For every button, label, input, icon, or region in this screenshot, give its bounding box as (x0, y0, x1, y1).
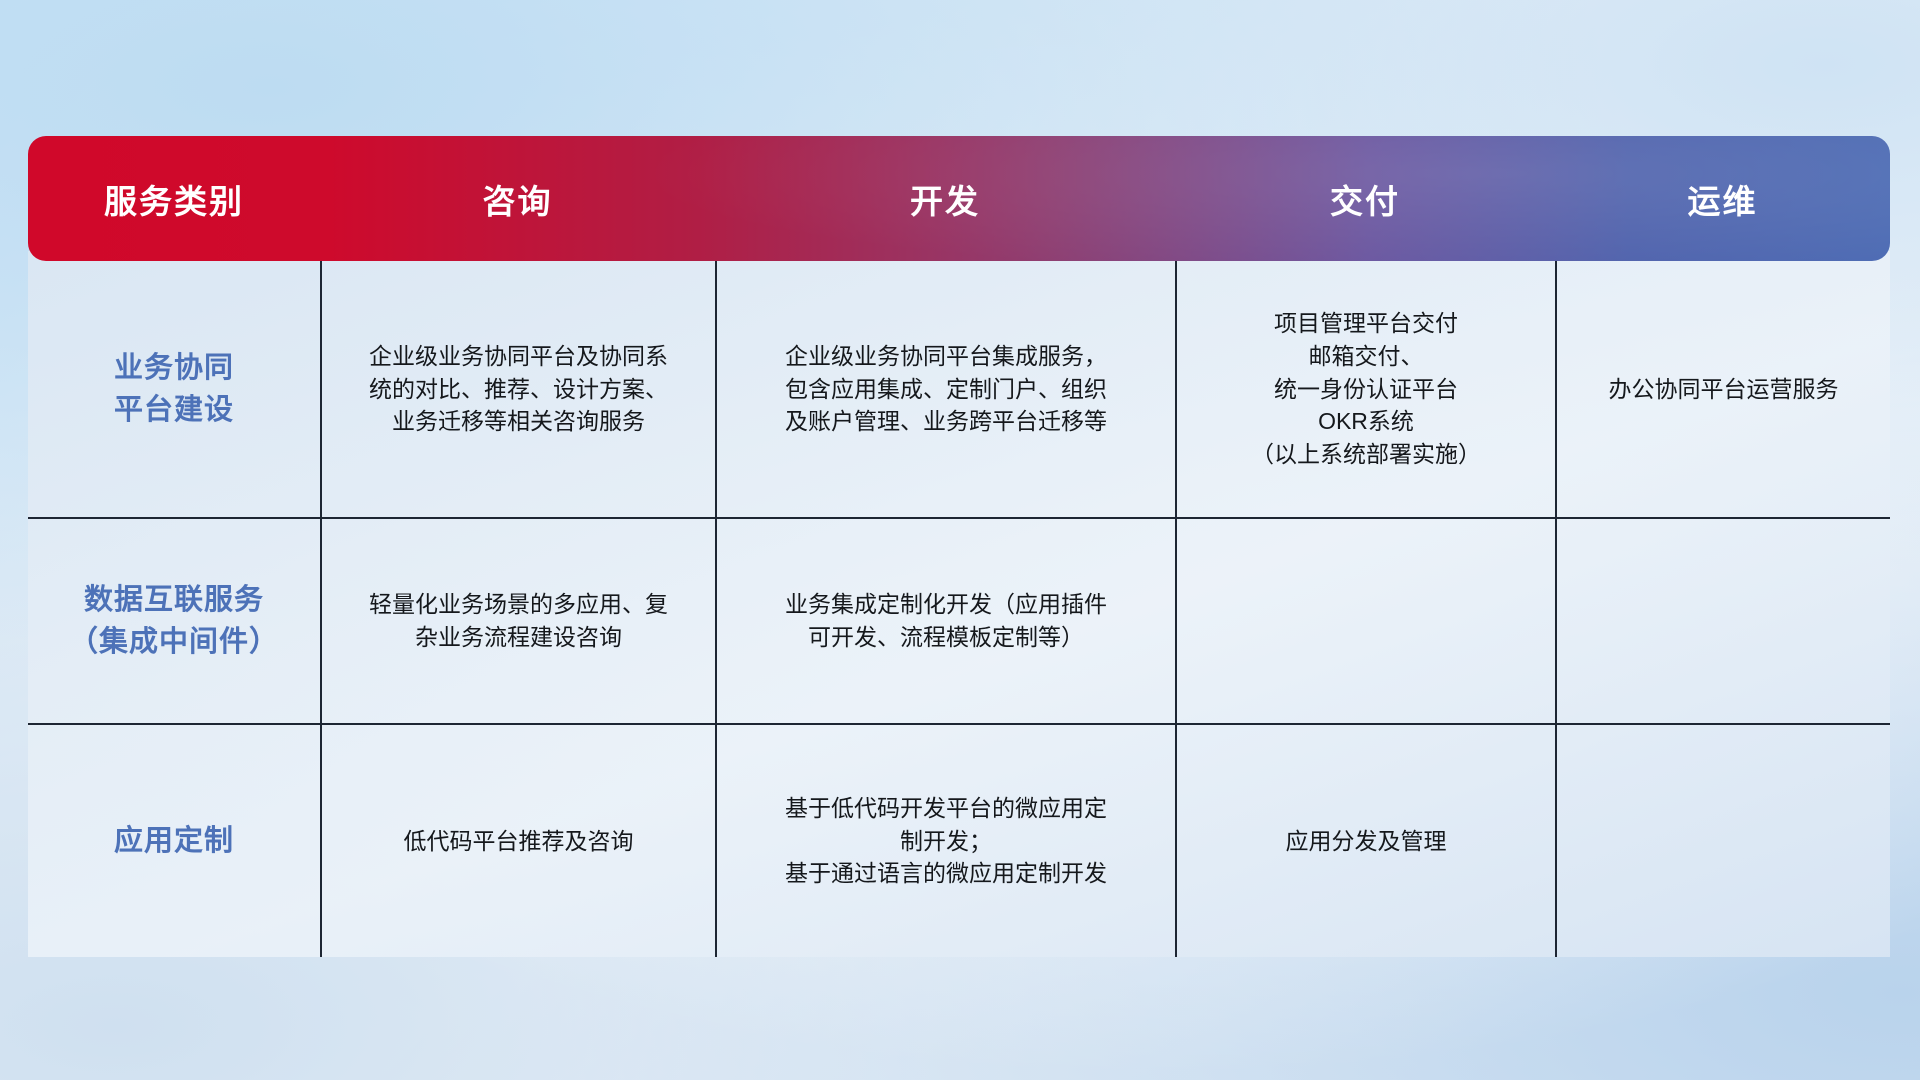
cell-text: 低代码平台推荐及咨询 (404, 825, 634, 858)
cell-delivery: 应用分发及管理 (1175, 725, 1555, 957)
table-header-row: 服务类别 咨询 开发 交付 运维 (28, 136, 1890, 261)
cell-operations (1555, 519, 1890, 723)
column-header-label: 咨询 (483, 175, 553, 223)
column-header-label: 开发 (910, 175, 980, 223)
column-header-label: 交付 (1330, 175, 1400, 223)
row-label-cell: 业务协同 平台建设 (28, 261, 320, 517)
slide-canvas: 服务类别 咨询 开发 交付 运维 业务协同 平台建设 (0, 0, 1920, 1080)
cell-text: 应用分发及管理 (1286, 825, 1447, 858)
cell-text: 基于低代码开发平台的微应用定 制开发； 基于通过语言的微应用定制开发 (785, 792, 1107, 890)
cell-text: 项目管理平台交付 邮箱交付、 统一身份认证平台 OKR系统 （以上系统部署实施） (1251, 307, 1481, 470)
column-header-service-category: 服务类别 (28, 136, 320, 261)
row-label-cell: 应用定制 (28, 725, 320, 957)
column-header-consulting: 咨询 (320, 136, 715, 261)
row-label-text: 业务协同 平台建设 (114, 347, 234, 431)
cell-delivery: 项目管理平台交付 邮箱交付、 统一身份认证平台 OKR系统 （以上系统部署实施） (1175, 261, 1555, 517)
column-header-delivery: 交付 (1175, 136, 1555, 261)
column-header-label: 服务类别 (104, 175, 244, 223)
table-body: 业务协同 平台建设 企业级业务协同平台及协同系 统的对比、推荐、设计方案、 业务… (28, 251, 1890, 957)
cell-text: 企业级业务协同平台及协同系 统的对比、推荐、设计方案、 业务迁移等相关咨询服务 (369, 340, 668, 438)
cell-consulting: 企业级业务协同平台及协同系 统的对比、推荐、设计方案、 业务迁移等相关咨询服务 (320, 261, 715, 517)
column-header-label: 运维 (1688, 175, 1758, 223)
cell-text: 企业级业务协同平台集成服务， 包含应用集成、定制门户、组织 及账户管理、业务跨平… (785, 340, 1107, 438)
table-row: 业务协同 平台建设 企业级业务协同平台及协同系 统的对比、推荐、设计方案、 业务… (28, 261, 1890, 517)
cell-consulting: 轻量化业务场景的多应用、复 杂业务流程建设咨询 (320, 519, 715, 723)
cell-consulting: 低代码平台推荐及咨询 (320, 725, 715, 957)
table-row: 数据互联服务 （集成中间件） 轻量化业务场景的多应用、复 杂业务流程建设咨询 业… (28, 517, 1890, 723)
cell-text: 轻量化业务场景的多应用、复 杂业务流程建设咨询 (369, 588, 668, 653)
cell-development: 企业级业务协同平台集成服务， 包含应用集成、定制门户、组织 及账户管理、业务跨平… (715, 261, 1175, 517)
cell-development: 基于低代码开发平台的微应用定 制开发； 基于通过语言的微应用定制开发 (715, 725, 1175, 957)
cell-operations (1555, 725, 1890, 957)
cell-operations: 办公协同平台运营服务 (1555, 261, 1890, 517)
column-header-operations: 运维 (1555, 136, 1890, 261)
cell-development: 业务集成定制化开发（应用插件 可开发、流程模板定制等） (715, 519, 1175, 723)
table-row: 应用定制 低代码平台推荐及咨询 基于低代码开发平台的微应用定 制开发； 基于通过… (28, 723, 1890, 957)
service-matrix-table: 服务类别 咨询 开发 交付 运维 业务协同 平台建设 (28, 136, 1890, 958)
column-header-development: 开发 (715, 136, 1175, 261)
row-label-text: 数据互联服务 （集成中间件） (69, 579, 279, 663)
cell-text: 业务集成定制化开发（应用插件 可开发、流程模板定制等） (785, 588, 1107, 653)
row-label-cell: 数据互联服务 （集成中间件） (28, 519, 320, 723)
row-label-text: 应用定制 (114, 820, 234, 862)
cell-text: 办公协同平台运营服务 (1609, 373, 1839, 406)
cell-delivery (1175, 519, 1555, 723)
